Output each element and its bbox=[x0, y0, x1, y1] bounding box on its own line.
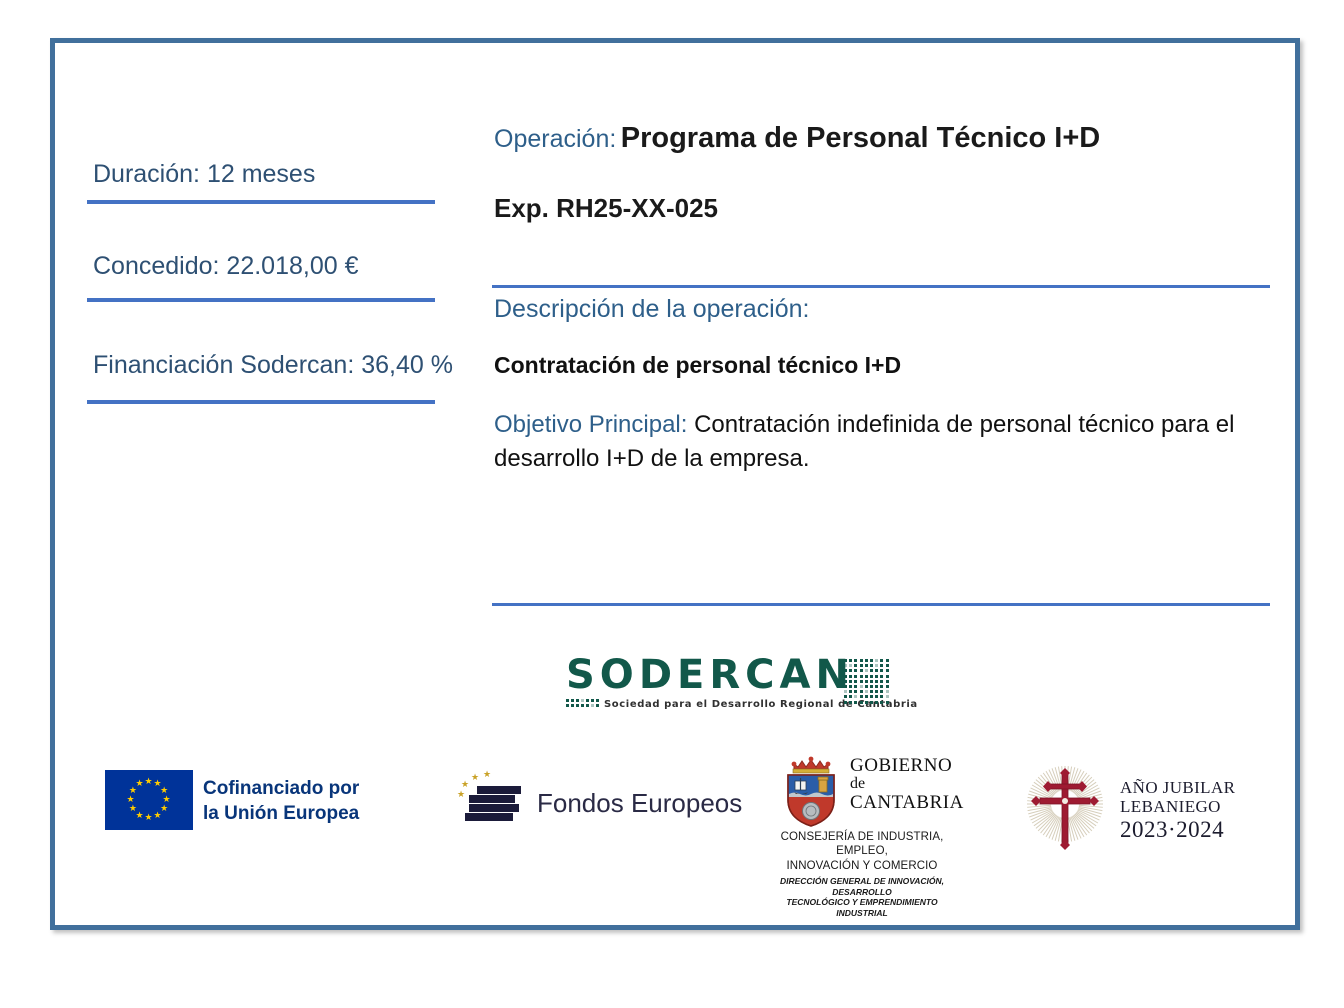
jubilar-line-2: LEBANIEGO bbox=[1120, 797, 1235, 816]
eu-star-icon: ★ bbox=[136, 779, 144, 788]
jubilar-cross-icon bbox=[1020, 760, 1116, 856]
operation-line: Operación: Programa de Personal Técnico … bbox=[494, 122, 1100, 155]
fondos-star-icon: ★ bbox=[471, 773, 479, 782]
consejeria-line-1: CONSEJERÍA DE INDUSTRIA, EMPLEO, bbox=[762, 830, 962, 859]
poster-canvas: Duración: 12 meses Concedido: 22.018,00 … bbox=[0, 0, 1344, 1008]
direccion-general-text: DIRECCIÓN GENERAL DE INNOVACIÓN, DESARRO… bbox=[762, 876, 962, 919]
description-headline: Contratación de personal técnico I+D bbox=[494, 352, 901, 379]
eu-logo-text: Cofinanciado por la Unión Europea bbox=[203, 776, 359, 826]
expediente-code: Exp. RH25-XX-025 bbox=[494, 193, 718, 224]
jubilar-line-1: AÑO JUBILAR bbox=[1120, 778, 1235, 797]
fondos-star-icon: ★ bbox=[457, 790, 465, 799]
objective-label: Objetivo Principal: bbox=[494, 411, 687, 438]
cantabria-coat-of-arms-icon bbox=[780, 756, 842, 833]
fondos-bar bbox=[477, 786, 521, 794]
ano-jubilar-text: AÑO JUBILAR LEBANIEGO 2023·2024 bbox=[1120, 778, 1235, 843]
fondos-staircase-icon: ★★★★ bbox=[455, 770, 531, 830]
operation-label: Operación: bbox=[494, 125, 616, 153]
gc-line-2: de bbox=[850, 776, 964, 793]
gobierno-cantabria-wordmark: GOBIERNO de CANTABRIA bbox=[850, 756, 964, 813]
eu-line-2: la Unión Europea bbox=[203, 801, 359, 826]
jubilar-line-3: 2023·2024 bbox=[1120, 817, 1235, 843]
right-divider-top bbox=[492, 285, 1270, 288]
gc-line-1: GOBIERNO bbox=[850, 756, 964, 776]
eu-star-icon: ★ bbox=[154, 811, 162, 820]
direccion-line-1: DIRECCIÓN GENERAL DE INNOVACIÓN, DESARRO… bbox=[762, 876, 962, 897]
fondos-star-icon: ★ bbox=[461, 780, 469, 789]
left-item-concedido: Concedido: 22.018,00 € bbox=[93, 252, 359, 281]
eu-star-icon: ★ bbox=[145, 813, 153, 822]
sodercan-logo: SODERCAN Sociedad para el Desarrollo Reg… bbox=[560, 655, 900, 717]
eu-star-icon: ★ bbox=[129, 804, 137, 813]
description-label: Descripción de la operación: bbox=[494, 295, 809, 324]
objective-block: Objetivo Principal: Contratación indefin… bbox=[494, 408, 1266, 476]
fondos-star-icon: ★ bbox=[483, 770, 491, 779]
eu-flag-icon: ★★★★★★★★★★★★ bbox=[105, 770, 193, 830]
eu-line-1: Cofinanciado por bbox=[203, 776, 359, 801]
left-item-financiacion: Financiación Sodercan: 36,40 % bbox=[93, 351, 453, 380]
left-divider-1 bbox=[87, 200, 435, 204]
right-divider-bottom bbox=[492, 603, 1270, 606]
left-divider-2 bbox=[87, 298, 435, 302]
gobierno-cantabria-head: GOBIERNO de CANTABRIA bbox=[762, 752, 962, 828]
footer-logo-row: ★★★★★★★★★★★★ Cofinanciado por la Unión E… bbox=[0, 748, 1344, 888]
fondos-europeos-text: Fondos Europeos bbox=[537, 788, 742, 819]
fondos-bar bbox=[485, 813, 513, 821]
consejeria-text: CONSEJERÍA DE INDUSTRIA, EMPLEO, INNOVAC… bbox=[762, 830, 962, 873]
fondos-bar bbox=[489, 804, 519, 812]
gc-line-3: CANTABRIA bbox=[850, 793, 964, 813]
left-divider-3 bbox=[87, 400, 435, 404]
eu-star-icon: ★ bbox=[145, 777, 153, 786]
eu-star-icon: ★ bbox=[127, 795, 135, 804]
fondos-bar bbox=[485, 795, 515, 803]
sodercan-wordmark: SODERCAN bbox=[566, 655, 854, 695]
direccion-line-2: TECNOLÓGICO Y EMPRENDIMIENTO INDUSTRIAL bbox=[762, 897, 962, 918]
operation-value: Programa de Personal Técnico I+D bbox=[621, 122, 1100, 154]
gobierno-cantabria-logo: GOBIERNO de CANTABRIA CONSEJERÍA DE INDU… bbox=[762, 752, 962, 919]
left-item-duracion: Duración: 12 meses bbox=[93, 160, 315, 189]
consejeria-line-2: INNOVACIÓN Y COMERCIO bbox=[762, 859, 962, 873]
